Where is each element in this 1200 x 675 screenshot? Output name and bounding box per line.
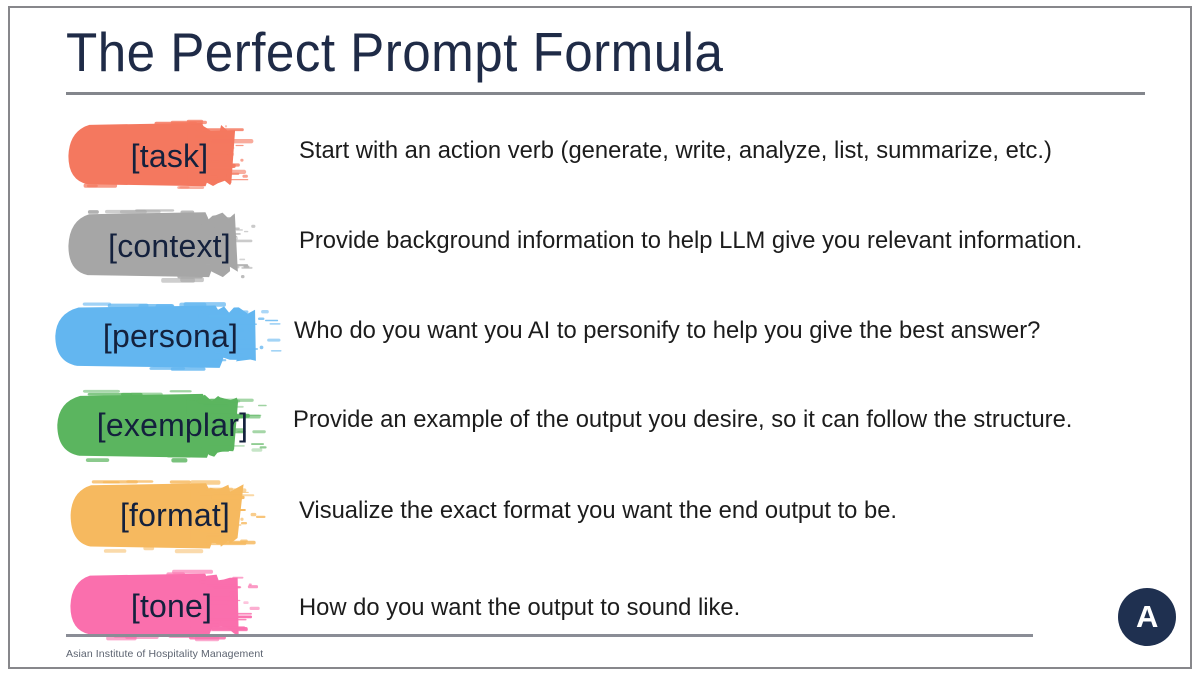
organization-logo: A — [1118, 588, 1176, 646]
highlight-brush-persona: [persona] — [48, 290, 293, 382]
description-persona: Who do you want you AI to personify to h… — [294, 317, 1040, 345]
description-exemplar: Provide an example of the output you des… — [293, 406, 1072, 434]
footer-organization: Asian Institute of Hospitality Managemen… — [66, 648, 263, 660]
tag-label-exemplar: [exemplar] — [50, 379, 295, 471]
tag-label-context: [context] — [62, 200, 277, 292]
highlight-brush-context: [context] — [62, 200, 277, 292]
formula-row-format: [format]Visualize the exact format you w… — [0, 469, 1200, 561]
formula-row-context: [context]Provide background information … — [0, 200, 1200, 292]
formula-row-persona: [persona]Who do you want you AI to perso… — [0, 290, 1200, 382]
description-task: Start with an action verb (generate, wri… — [299, 137, 1052, 165]
description-context: Provide background information to help L… — [299, 227, 1082, 255]
description-tone: How do you want the output to sound like… — [299, 594, 740, 622]
tag-label-task: [task] — [62, 110, 277, 202]
formula-row-tone: [tone]How do you want the output to soun… — [0, 560, 1200, 652]
formula-row-exemplar: [exemplar]Provide an example of the outp… — [0, 379, 1200, 471]
tag-label-persona: [persona] — [48, 290, 293, 382]
highlight-brush-exemplar: [exemplar] — [50, 379, 295, 471]
description-format: Visualize the exact format you want the … — [299, 497, 897, 525]
highlight-brush-task: [task] — [62, 110, 277, 202]
highlight-brush-format: [format] — [64, 469, 286, 561]
footer-divider — [66, 634, 1033, 637]
slide: The Perfect Prompt Formula [task]Start w… — [0, 0, 1200, 675]
highlight-brush-tone: [tone] — [64, 560, 279, 652]
formula-row-task: [task]Start with an action verb (generat… — [0, 110, 1200, 202]
formula-rows: [task]Start with an action verb (generat… — [0, 0, 1200, 675]
tag-label-format: [format] — [64, 469, 286, 561]
tag-label-tone: [tone] — [64, 560, 279, 652]
logo-letter: A — [1136, 601, 1158, 632]
